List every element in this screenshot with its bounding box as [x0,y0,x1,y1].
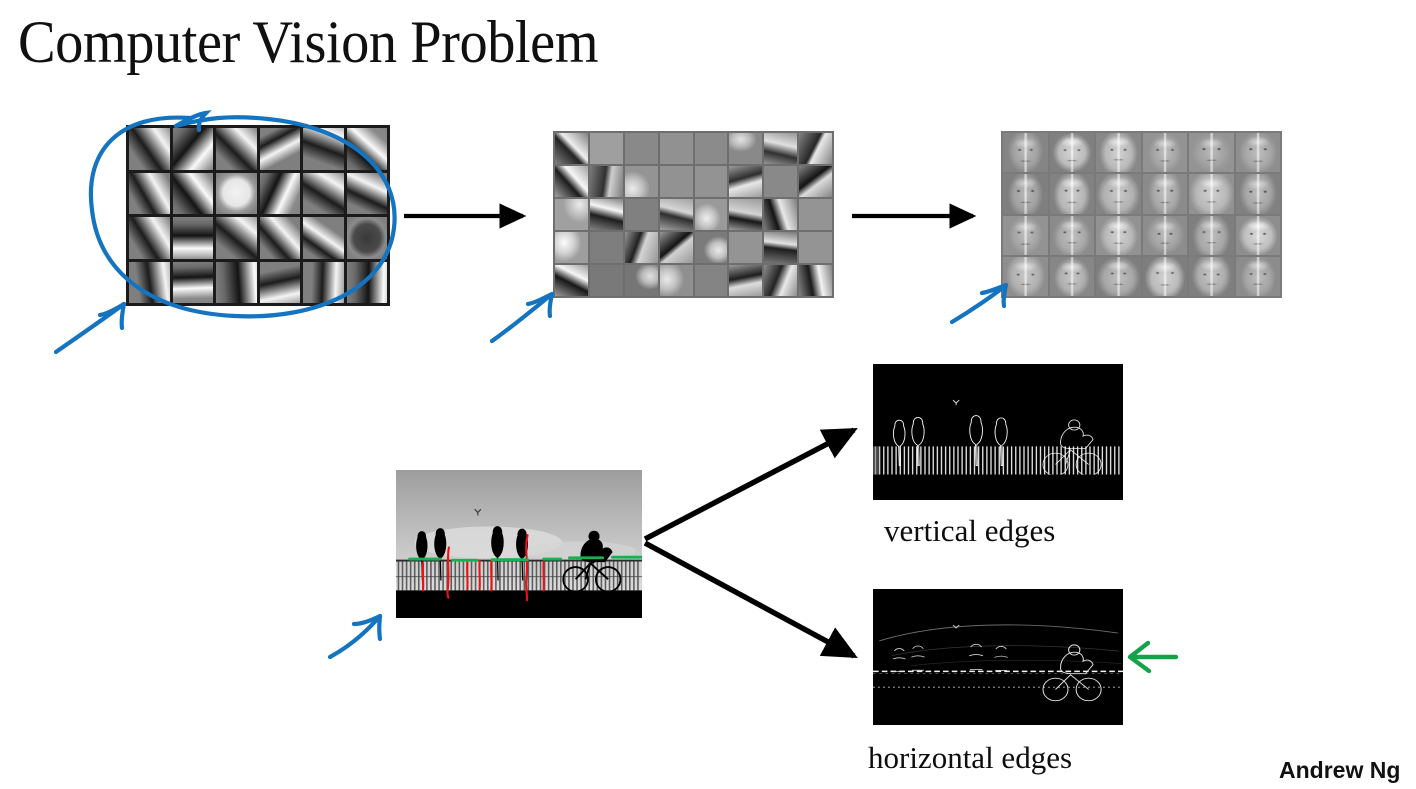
face-part-patch [764,265,797,296]
face-part-patch [695,232,728,263]
face-part-patch [555,166,588,197]
face-part-patch [555,232,588,263]
horizontal-edges-label: horizontal edges [868,740,1072,776]
face-patch [1096,174,1141,213]
face-patch [1143,216,1188,255]
face-part-patch [729,232,762,263]
edge-filter-grid [126,125,390,306]
face-part-patch [625,265,658,296]
face-part-patch [729,265,762,296]
face-patch [1236,174,1281,213]
filter-patch [129,173,170,215]
faces-grid [1001,131,1282,298]
face-patch [1236,133,1281,172]
filter-patch [216,217,257,259]
filter-patch [347,217,388,259]
face-part-patch [555,265,588,296]
face-patch [1143,133,1188,172]
filter-patch [129,262,170,304]
filter-patch [260,262,301,304]
filter-patch [173,217,214,259]
filter-patch [129,217,170,259]
face-patch [1096,133,1141,172]
filter-patch [303,173,344,215]
face-patch [1189,133,1234,172]
filter-patch [129,128,170,170]
face-patch [1143,174,1188,213]
face-part-patch [625,166,658,197]
face-part-patch [625,199,658,230]
filter-patch [347,262,388,304]
face-patch [1189,216,1234,255]
face-part-patch [660,199,693,230]
face-part-patch [590,232,623,263]
face-parts-grid [553,131,834,298]
filter-patch [173,128,214,170]
face-patch [1143,257,1188,296]
face-part-patch [799,166,832,197]
face-patch [1050,257,1095,296]
face-part-patch [660,265,693,296]
face-patch [1096,216,1141,255]
face-part-patch [729,133,762,164]
filter-patch [260,128,301,170]
face-part-patch [660,133,693,164]
filter-patch [216,128,257,170]
face-patch [1003,257,1048,296]
face-part-patch [590,166,623,197]
face-part-patch [555,199,588,230]
green-arrow-annotation [1130,643,1176,671]
face-patch [1096,257,1141,296]
face-patch [1003,133,1048,172]
face-part-patch [799,133,832,164]
face-part-patch [729,199,762,230]
face-part-patch [799,265,832,296]
slide-canvas: Computer Vision Problem vertical edges h… [0,0,1416,789]
face-patch [1236,257,1281,296]
filter-patch [216,262,257,304]
filter-patch [216,173,257,215]
vertical-edges-label: vertical edges [884,513,1055,549]
face-patch [1189,174,1234,213]
face-part-patch [695,199,728,230]
filter-patch [260,217,301,259]
filter-patch [260,173,301,215]
face-part-patch [660,232,693,263]
horizontal-edges-image [873,589,1123,725]
face-patch [1003,174,1048,213]
face-part-patch [799,232,832,263]
page-title: Computer Vision Problem [18,8,598,77]
face-part-patch [695,265,728,296]
branch-arrows [645,430,854,656]
face-patch [1236,216,1281,255]
face-part-patch [625,232,658,263]
face-patch [1189,257,1234,296]
face-part-patch [590,133,623,164]
face-part-patch [764,166,797,197]
filter-patch [347,173,388,215]
filter-patch [303,262,344,304]
face-part-patch [625,133,658,164]
face-part-patch [695,133,728,164]
face-patch [1050,174,1095,213]
filter-patch [347,128,388,170]
vertical-edges-image [873,364,1123,500]
face-part-patch [660,166,693,197]
source-photo [396,470,642,618]
face-patch [1003,216,1048,255]
face-part-patch [590,265,623,296]
filter-patch [173,262,214,304]
filter-patch [303,128,344,170]
face-part-patch [764,232,797,263]
face-patch [1050,133,1095,172]
face-part-patch [764,199,797,230]
face-patch [1050,216,1095,255]
author-signature: Andrew Ng [1279,757,1400,784]
face-part-patch [555,133,588,164]
face-part-patch [590,199,623,230]
filter-patch [303,217,344,259]
annotation-overlay [0,0,1416,789]
face-part-patch [764,133,797,164]
face-part-patch [729,166,762,197]
filter-patch [173,173,214,215]
face-part-patch [799,199,832,230]
face-part-patch [695,166,728,197]
